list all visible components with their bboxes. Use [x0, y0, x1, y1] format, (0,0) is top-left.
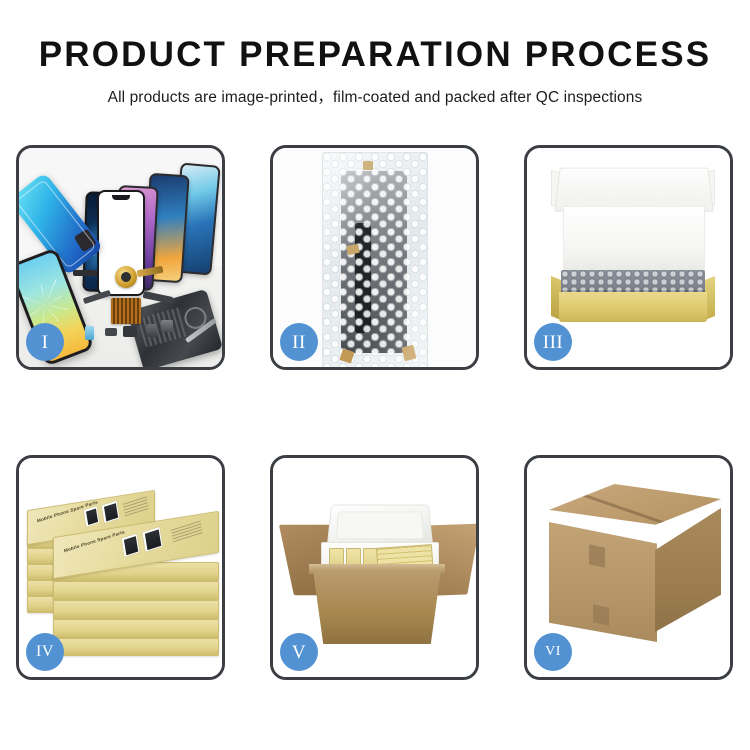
step-badge-1: I [26, 323, 64, 361]
retail-box-bullet-lines-2 [171, 521, 203, 545]
step-panel-4[interactable]: Mobile Phone Spare Parts Mobile Phone Sp… [16, 455, 225, 680]
page-subtitle: All products are image-printed，film-coat… [0, 85, 750, 107]
step-badge-2: II [280, 323, 318, 361]
header: PRODUCT PREPARATION PROCESS All products… [0, 0, 750, 107]
speaker-coil-part [115, 266, 137, 288]
open-mailer-box [551, 166, 715, 331]
retail-box-swatch-2 [101, 500, 121, 525]
speaker-module-part [123, 326, 137, 337]
mailer-front-wall [559, 292, 707, 322]
step-badge-6: VI [534, 633, 572, 671]
stacked-box-edge-7 [53, 581, 219, 601]
retail-box-swatch-3 [120, 533, 140, 559]
step-panel-3[interactable]: III [524, 145, 733, 370]
sealed-shipping-carton [549, 484, 721, 648]
stacked-box-edge-9 [53, 619, 219, 639]
step-badge-4: IV [26, 633, 64, 671]
step-panel-6[interactable]: VI [524, 455, 733, 680]
earpiece-part [73, 270, 97, 276]
retail-box-bullet-lines-1 [123, 496, 149, 518]
retail-box-stack: Mobile Phone Spare Parts Mobile Phone Sp… [25, 480, 221, 660]
process-steps-grid: I II [16, 145, 735, 675]
plastic-sheen [323, 153, 427, 367]
foam-pad [563, 206, 705, 274]
carton-body [313, 570, 441, 644]
stacked-box-edge-8 [53, 600, 219, 620]
bubble-wrap-package [322, 152, 428, 367]
button-part-3 [161, 320, 173, 332]
step-badge-3: III [534, 323, 572, 361]
product-preparation-process-page: PRODUCT PREPARATION PROCESS All products… [0, 0, 750, 750]
carton-tape-upper [589, 544, 605, 567]
button-part-1 [105, 328, 117, 336]
step-panel-1[interactable]: I [16, 145, 225, 370]
stacked-box-edge-10 [53, 638, 219, 656]
step-panel-5[interactable]: V [270, 455, 479, 680]
carton-side-face [655, 508, 721, 632]
retail-box-label-2: Mobile Phone Spare Parts [64, 529, 126, 553]
button-part-2 [147, 324, 157, 337]
retail-box-swatch-4 [141, 526, 163, 553]
step-panel-2[interactable]: II [270, 145, 479, 370]
shipping-carton-open [291, 484, 467, 654]
page-title: PRODUCT PREPARATION PROCESS [0, 36, 750, 75]
chip-grid-part [111, 298, 141, 324]
step-badge-5: V [280, 633, 318, 671]
sim-tray-part [85, 326, 94, 340]
foam-lid [327, 505, 434, 548]
carton-tape-lower [593, 604, 609, 625]
retail-box-swatch-1 [83, 505, 101, 528]
